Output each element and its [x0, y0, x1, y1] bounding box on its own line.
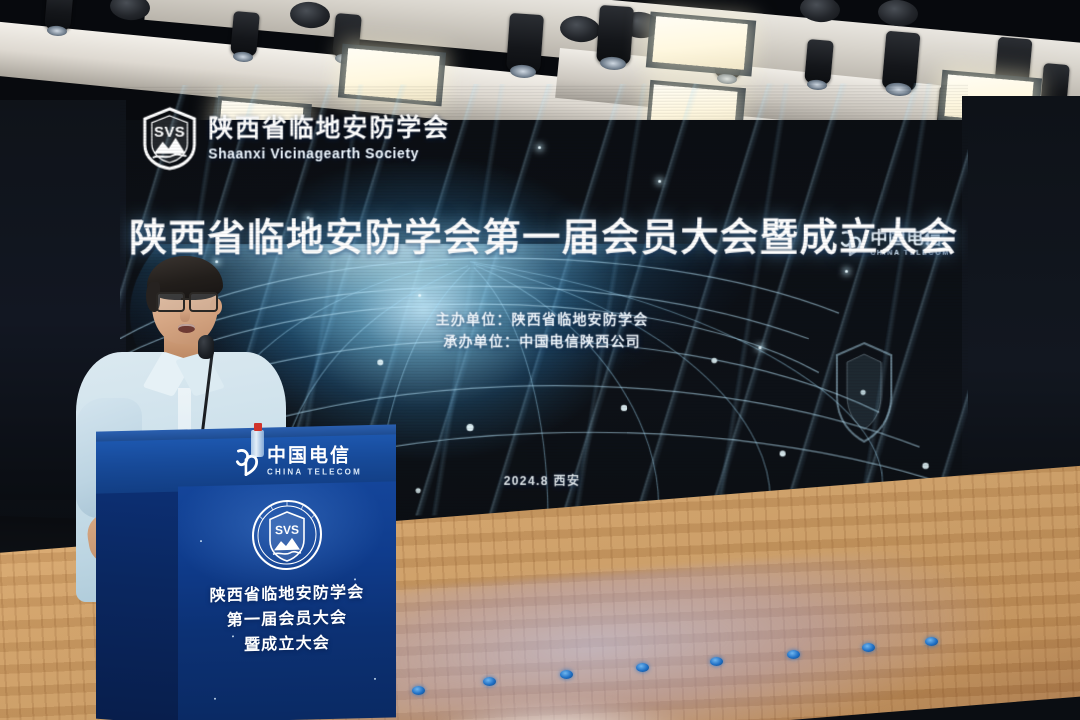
floor-marker: [925, 637, 938, 646]
podium-side-panel: [96, 483, 180, 720]
podium: 中国电信 CHINA TELECOM SVS: [96, 428, 396, 720]
podium-line-3: 暨成立大会: [178, 629, 396, 659]
screen-sparkle: [658, 180, 661, 183]
glasses-lens-left: [156, 292, 185, 312]
society-name-en: Shaanxi Vicinagearth Society: [208, 146, 450, 160]
conference-stage-scene: SVS 陕西省临地安防学会 Shaanxi Vicinagearth Socie…: [0, 0, 1080, 720]
moving-head-spotlight: [596, 5, 634, 65]
podium-star: [214, 698, 216, 700]
par-can-light: [877, 0, 919, 28]
screen-sparkle: [845, 270, 848, 273]
svg-text:SVS: SVS: [154, 124, 185, 141]
stage-floor-hotspot: [430, 700, 690, 720]
water-bottle-body: [251, 430, 264, 457]
glasses-bridge: [181, 298, 189, 300]
moving-head-spotlight: [44, 0, 74, 31]
floor-marker: [483, 677, 496, 686]
society-name-cn: 陕西省临地安防学会: [208, 116, 450, 141]
microphone-head: [198, 335, 214, 359]
china-telecom-name-en: CHINA TELECOM: [267, 469, 362, 477]
podium-line-1: 陕西省临地安防学会: [178, 579, 396, 609]
floor-marker: [862, 643, 875, 652]
floor-marker: [710, 657, 723, 666]
moving-head-spotlight: [230, 11, 260, 57]
floor-marker: [412, 686, 425, 695]
moving-head-spotlight: [506, 13, 544, 73]
water-bottle-cap: [254, 423, 262, 431]
society-name-block: 陕西省临地安防学会 Shaanxi Vicinagearth Society: [208, 116, 450, 160]
screen-sparkle: [418, 294, 421, 297]
glasses-lens-right: [189, 292, 218, 312]
society-logo: SVS 陕西省临地安防学会 Shaanxi Vicinagearth Socie…: [142, 106, 450, 170]
moving-head-spotlight: [804, 39, 834, 85]
china-telecom-text-podium: 中国电信 CHINA TELECOM: [267, 447, 362, 477]
led-panel-light: [652, 16, 748, 70]
podium-star: [200, 540, 202, 542]
floor-marker: [560, 670, 573, 679]
svg-text:SVS: SVS: [275, 523, 299, 538]
podium-front-panel: SVS 陕西省临地安防学会 第一届会员大会 暨成立大会: [178, 481, 396, 720]
screen-shield-graphic: [833, 340, 895, 444]
floor-marker: [636, 663, 649, 672]
svs-shield-icon: SVS: [142, 107, 198, 171]
speaker-mouth: [178, 324, 195, 333]
water-bottle: [251, 423, 264, 457]
podium-event-text: 陕西省临地安防学会 第一届会员大会 暨成立大会: [178, 579, 396, 659]
screen-sparkle: [538, 146, 541, 149]
speaker-glasses: [156, 292, 218, 309]
floor-marker: [787, 650, 800, 659]
svs-circular-emblem-icon: SVS: [250, 497, 324, 573]
china-telecom-name-cn: 中国电信: [267, 447, 362, 466]
podium-star: [374, 678, 376, 680]
